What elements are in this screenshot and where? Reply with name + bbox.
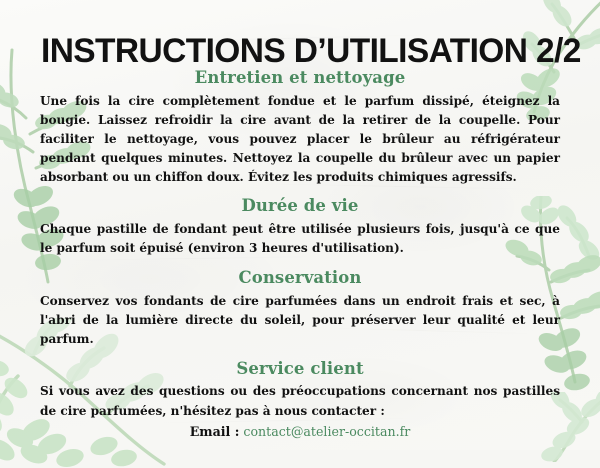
instructions-sections: Entretien et nettoyage Une fois la cire … <box>38 68 562 451</box>
section-service-client: Service client Si vous avez des question… <box>38 359 562 439</box>
section-heading: Service client <box>38 359 562 380</box>
page-title: INSTRUCTIONS D’UTILISATION 2/2 <box>41 32 581 71</box>
email-address-link[interactable]: contact@atelier-occitan.fr <box>243 424 410 439</box>
section-entretien-et-nettoyage: Entretien et nettoyage Une fois la cire … <box>38 68 562 187</box>
section-conservation: Conservation Conservez vos fondants de c… <box>38 268 562 349</box>
section-body: Si vous avez des questions ou des préocc… <box>38 382 562 420</box>
section-duree-de-vie: Durée de vie Chaque pastille de fondant … <box>38 196 562 258</box>
section-heading: Durée de vie <box>38 196 562 217</box>
section-heading: Entretien et nettoyage <box>38 68 562 89</box>
section-body: Une fois la cire complètement fondue et … <box>38 92 562 187</box>
contact-email-line: Email : contact@atelier-occitan.fr <box>38 424 562 439</box>
section-body: Conservez vos fondants de cire parfumées… <box>38 292 562 349</box>
section-body: Chaque pastille de fondant peut être uti… <box>38 220 562 258</box>
section-heading: Conservation <box>38 268 562 289</box>
email-label: Email : <box>190 424 240 439</box>
